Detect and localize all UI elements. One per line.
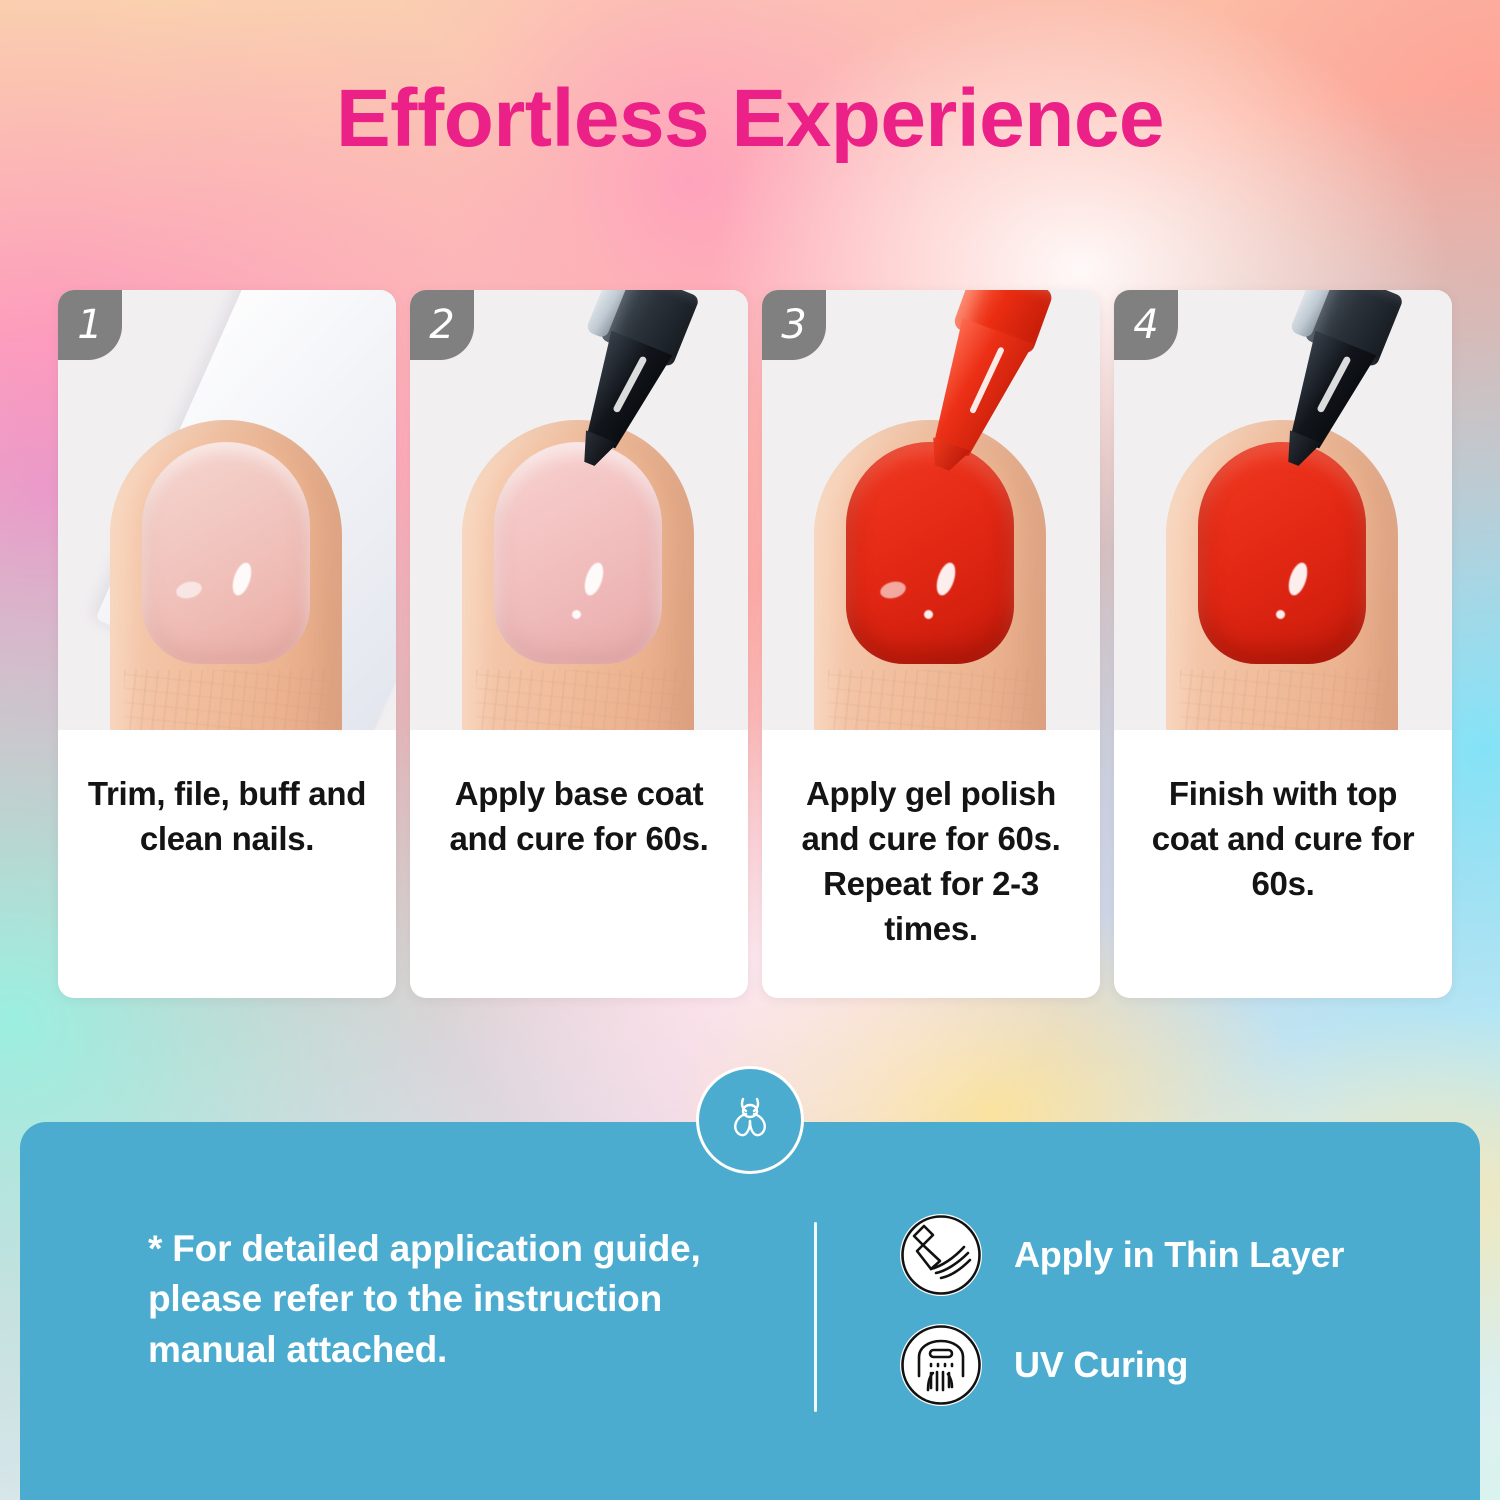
nail-highlight: [1276, 610, 1285, 619]
step-caption-1: Trim, file, buff and clean nails.: [58, 730, 396, 998]
brand-bee-logo-icon: [719, 1087, 781, 1154]
brush-thin-layer-icon: [900, 1214, 982, 1296]
step-caption-3: Apply gel polish and cure for 60s. Repea…: [762, 730, 1100, 998]
brush-body: [914, 316, 1033, 464]
panel-divider: [814, 1222, 817, 1412]
step-number-badge-4: 4: [1114, 290, 1178, 360]
step-card-2[interactable]: 2 Apply base coat and cure for 60s.: [410, 290, 748, 998]
step-2-photo-base-coat: 2: [410, 290, 748, 730]
feature-label-uv-curing: UV Curing: [1014, 1344, 1188, 1386]
nail-highlight: [581, 560, 607, 597]
step-cards-row: 1 Trim, file, buff and clean nails.: [58, 290, 1452, 998]
black-topcoat-brush: [1225, 290, 1422, 518]
nail-highlight: [933, 560, 959, 597]
step-3-photo-gel-polish: 3: [762, 290, 1100, 730]
instruction-manual-note: * For detailed application guide, please…: [148, 1224, 788, 1375]
infographic-page: Effortless Experience 1 Trim, file, buff…: [0, 0, 1500, 1500]
step-card-4[interactable]: 4 Finish with top coat and cure for 60s.: [1114, 290, 1452, 998]
red-polish-brush: [863, 290, 1080, 536]
page-title: Effortless Experience: [0, 78, 1500, 160]
step-caption-4: Finish with top coat and cure for 60s.: [1114, 730, 1452, 998]
nail-plate-natural: [142, 442, 310, 664]
feature-label-thin-layer: Apply in Thin Layer: [1014, 1234, 1344, 1276]
step-4-photo-top-coat: 4: [1114, 290, 1452, 730]
feature-apply-thin-layer: Apply in Thin Layer: [900, 1214, 1344, 1296]
uv-lamp-icon: [900, 1324, 982, 1406]
step-1-photo-natural-nail: 1: [58, 290, 396, 730]
nail-highlight: [878, 579, 907, 601]
feature-uv-curing: UV Curing: [900, 1324, 1344, 1406]
brand-logo-badge: [696, 1066, 804, 1174]
step-caption-2: Apply base coat and cure for 60s.: [410, 730, 748, 998]
feature-list: Apply in Thin Layer: [900, 1214, 1344, 1406]
step-card-3[interactable]: 3 Apply gel polish and cure for 60s. Rep…: [762, 290, 1100, 998]
nail-highlight: [174, 579, 203, 601]
step-number-badge-3: 3: [762, 290, 826, 360]
info-panel: * For detailed application guide, please…: [20, 1122, 1480, 1500]
step-card-1[interactable]: 1 Trim, file, buff and clean nails.: [58, 290, 396, 998]
step-number-badge-2: 2: [410, 290, 474, 360]
nail-highlight: [924, 610, 933, 619]
step-number-badge-1: 1: [58, 290, 122, 360]
black-polish-brush: [521, 290, 718, 518]
nail-highlight: [572, 610, 581, 619]
nail-highlight: [229, 560, 255, 597]
nail-highlight: [1285, 560, 1311, 597]
